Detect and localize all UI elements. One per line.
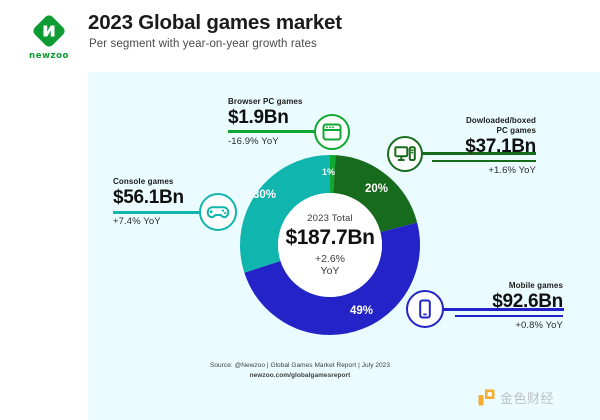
donut-hole	[278, 193, 382, 297]
jinse-finance-logo-icon	[478, 389, 495, 406]
callout-label-console: Console games	[113, 177, 211, 187]
callout-value-console: $56.1Bn	[113, 188, 211, 208]
callout-value-downloaded-pc: $37.1Bn	[432, 137, 536, 157]
newzoo-diamond-logo-icon	[30, 12, 68, 50]
page-subtitle: Per segment with year-on-year growth rat…	[89, 38, 317, 50]
callout-label-downloaded-pc: Dowloaded/boxed PC games	[432, 116, 536, 136]
callout-console-games: Console games $56.1Bn +7.4% YoY	[113, 177, 211, 227]
callout-yoy-browser: -16.9% YoY	[228, 136, 328, 147]
desktop-pc-icon	[387, 136, 423, 172]
callout-yoy-console: +7.4% YoY	[113, 216, 211, 227]
callout-rule-browser	[228, 131, 328, 134]
callout-yoy-downloaded-pc: +1.6% YoY	[432, 165, 536, 176]
callout-label-browser: Browser PC games	[228, 97, 328, 107]
callout-rule-downloaded-pc	[432, 160, 536, 163]
gamepad-icon	[199, 193, 237, 231]
callout-rule-console	[113, 211, 211, 214]
slice-percent-browser: 1%	[322, 167, 335, 177]
slice-percent-console: 30%	[253, 189, 276, 201]
callout-rule-mobile	[455, 315, 563, 318]
infographic-root: newzoo 2023 Global games market Per segm…	[0, 0, 600, 420]
callout-browser-pc-games: Browser PC games $1.9Bn -16.9% YoY	[228, 97, 328, 147]
header: newzoo 2023 Global games market Per segm…	[0, 0, 600, 72]
callout-label-downloaded-pc-line2: PC games	[497, 126, 536, 135]
callout-mobile-games: Mobile games $92.6Bn +0.8% YoY	[455, 281, 563, 331]
newzoo-logo: newzoo	[20, 12, 78, 61]
source-line-2: newzoo.com/globalgamesreport	[0, 371, 600, 381]
source-line-1: Source: @Newzoo | Global Games Market Re…	[0, 361, 600, 371]
slice-percent-downloaded-pc: 20%	[365, 183, 388, 195]
callout-yoy-mobile: +0.8% YoY	[455, 320, 563, 331]
callout-label-downloaded-pc-line1: Dowloaded/boxed	[466, 116, 536, 125]
smartphone-icon	[406, 290, 444, 328]
watermark-text: 金色财经	[500, 388, 554, 407]
logo-wordmark: newzoo	[20, 51, 78, 61]
browser-window-icon	[314, 114, 350, 150]
callout-value-mobile: $92.6Bn	[455, 292, 563, 312]
watermark: 金色财经	[478, 388, 554, 407]
page-title: 2023 Global games market	[88, 11, 342, 35]
source-note: Source: @Newzoo | Global Games Market Re…	[0, 361, 600, 381]
callout-label-mobile: Mobile games	[455, 281, 563, 291]
callout-value-browser: $1.9Bn	[228, 108, 328, 128]
slice-percent-mobile: 49%	[350, 305, 373, 317]
callout-downloaded-boxed-pc-games: Dowloaded/boxed PC games $37.1Bn +1.6% Y…	[432, 116, 536, 176]
